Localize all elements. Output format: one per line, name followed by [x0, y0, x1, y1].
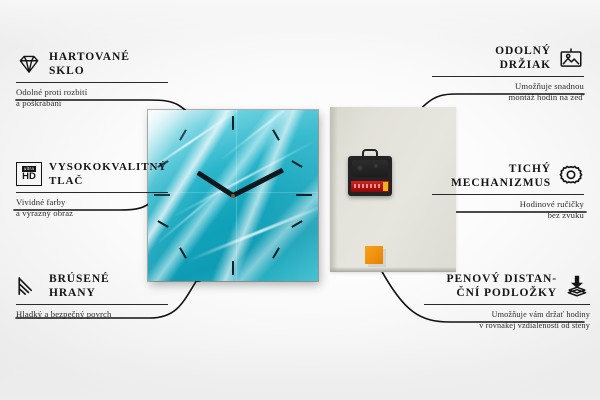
- clock-mechanism: [348, 156, 392, 196]
- feature-title: BRÚSENÉHRANY: [49, 272, 110, 300]
- feature-title: HARTOVANÉSKLO: [49, 50, 130, 78]
- foam-spacer-pad: [365, 246, 383, 264]
- mechanism-housing: [352, 160, 388, 177]
- feature-title: PENOVÝ DISTAN-ČNÍ PODLOŽKY: [447, 272, 557, 300]
- battery: [351, 181, 389, 192]
- wall-clock: [148, 110, 318, 281]
- ultra-hd-icon-main-label: HD: [22, 172, 36, 182]
- feature-high-quality-print: ultra HD VYSOKOKVALITNÝTLAČ Vividné farb…: [16, 160, 168, 219]
- ground-edges-icon: [16, 273, 42, 299]
- battery-label: [354, 184, 380, 188]
- feature-title: TICHÝMECHANIZMUS: [451, 162, 551, 190]
- feature-divider: [432, 194, 584, 195]
- feature-tempered-glass: HARTOVANÉSKLO Odolné proti rozbitía pošk…: [16, 50, 168, 109]
- feature-description: Umožňuje snadnoumontáž hodin na zeď: [432, 81, 584, 103]
- feature-description: Hodinové ručičkybez zvuku: [432, 199, 584, 221]
- feature-divider: [424, 304, 590, 305]
- feature-divider: [16, 304, 168, 305]
- feature-durable-holder: ODOLNÝDRŽIAK Umožňuje snadnoumontáž hodi…: [432, 44, 584, 103]
- feature-divider: [16, 82, 168, 83]
- product-photo: [140, 96, 470, 288]
- battery-positive-terminal: [383, 182, 388, 191]
- clock-tick-3: [296, 194, 312, 196]
- feature-header: ODOLNÝDRŽIAK: [432, 44, 584, 72]
- ultra-hd-icon: ultra HD: [16, 162, 42, 186]
- diamond-icon: [16, 51, 42, 77]
- feature-description: Hladký a bezpečný povrch: [16, 309, 168, 320]
- clock-tick-12: [232, 116, 234, 130]
- stacked-arrow-icon: [564, 273, 590, 299]
- feature-description: Odolné proti rozbitía poškrábání: [16, 87, 168, 109]
- wall-panel-left-shade: [330, 107, 338, 272]
- feature-ground-edges: BRÚSENÉHRANY Hladký a bezpečný povrch: [16, 272, 168, 320]
- feature-header: PENOVÝ DISTAN-ČNÍ PODLOŽKY: [424, 272, 590, 300]
- clock-center-hub: [231, 194, 235, 198]
- feature-title: ODOLNÝDRŽIAK: [495, 44, 551, 72]
- feature-header: HARTOVANÉSKLO: [16, 50, 168, 78]
- clock-tick-6: [232, 261, 234, 275]
- gear-icon: [558, 163, 584, 189]
- feature-title: VYSOKOKVALITNÝTLAČ: [49, 160, 167, 188]
- mechanism-hanger: [362, 149, 378, 158]
- infographic-canvas: HARTOVANÉSKLO Odolné proti rozbitía pošk…: [0, 0, 600, 400]
- feature-divider: [16, 192, 168, 193]
- feature-description: Vividné farbya výrazný obraz: [16, 197, 168, 219]
- feature-header: TICHÝMECHANIZMUS: [432, 162, 584, 190]
- feature-header: BRÚSENÉHRANY: [16, 272, 168, 300]
- feature-divider: [432, 76, 584, 77]
- picture-frame-icon: [558, 45, 584, 71]
- feature-header: ultra HD VYSOKOKVALITNÝTLAČ: [16, 160, 168, 188]
- feature-foam-spacers: PENOVÝ DISTAN-ČNÍ PODLOŽKY Umožňuje vám …: [424, 272, 590, 331]
- feature-description: Umožňuje vám držať hodinyv rovnakej vzdi…: [424, 309, 590, 331]
- feature-silent-mechanism: TICHÝMECHANIZMUS Hodinové ručičkybez zvu…: [432, 162, 584, 221]
